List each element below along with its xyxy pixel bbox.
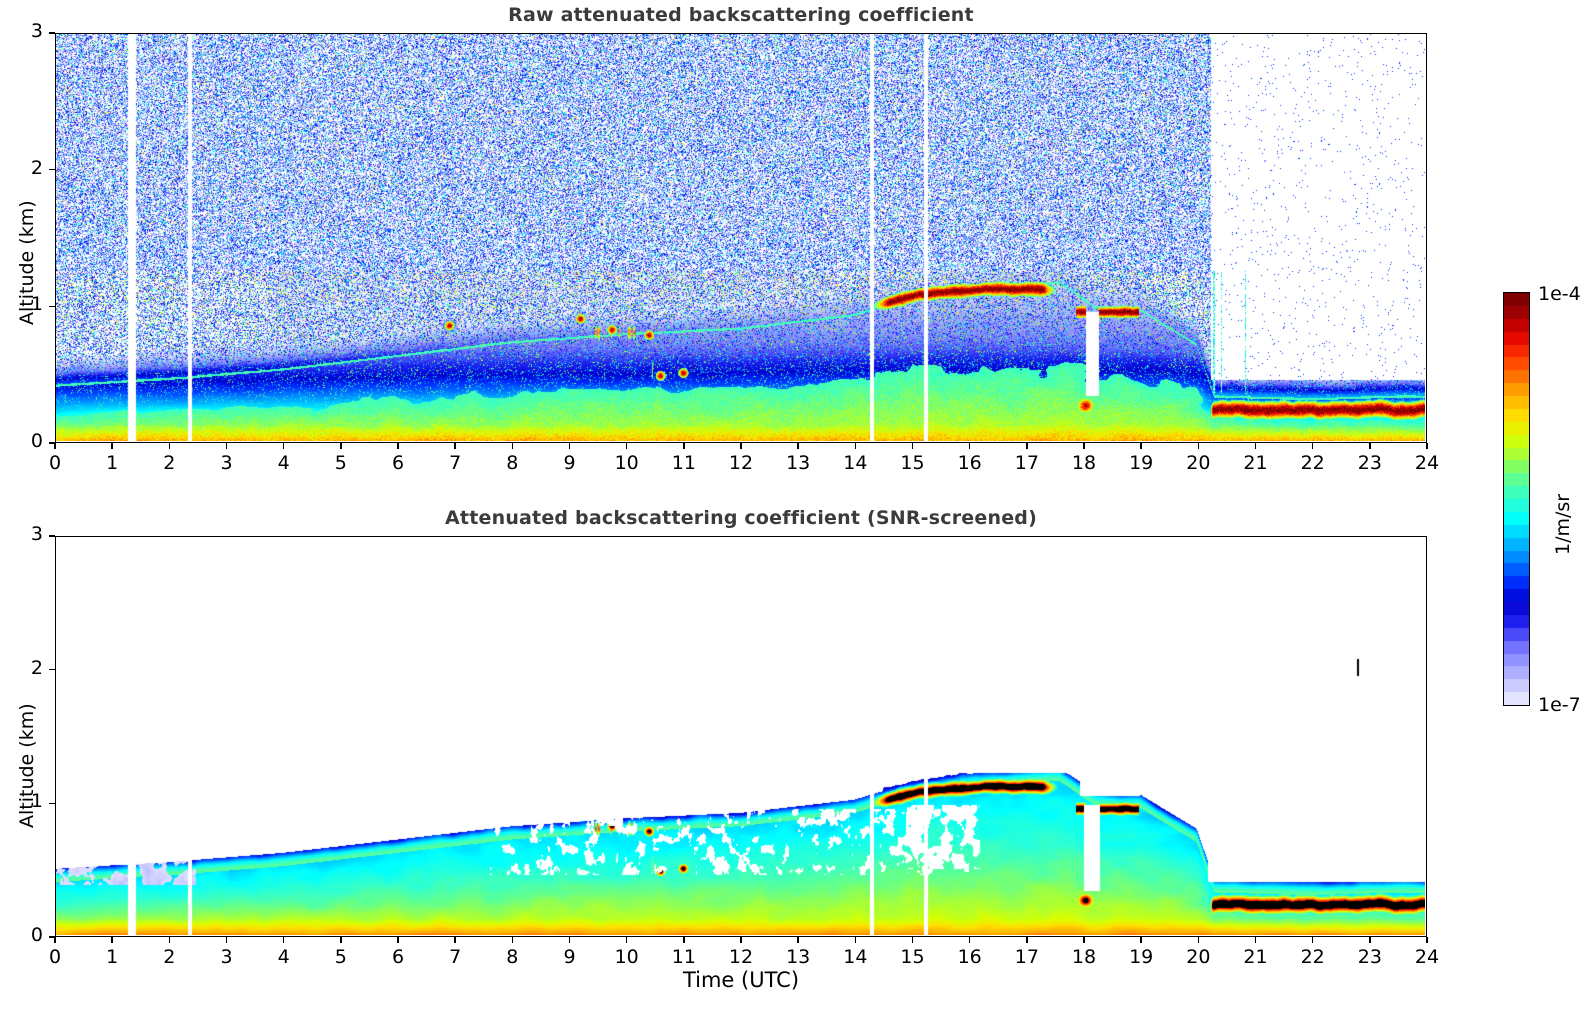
x-tick-mark	[797, 937, 799, 943]
plot-area-snr	[55, 536, 1427, 937]
x-tick-label: 11	[654, 946, 714, 968]
panel-title-snr: Attenuated backscattering coefficient (S…	[55, 507, 1427, 529]
x-axis-label: Time (UTC)	[55, 968, 1427, 992]
x-tick-mark	[855, 937, 857, 943]
x-tick-label: 20	[1168, 452, 1228, 474]
x-tick-label: 16	[940, 946, 1000, 968]
y-tick-mark	[49, 936, 55, 938]
x-tick-label: 12	[711, 946, 771, 968]
x-tick-mark	[1026, 443, 1028, 449]
x-tick-label: 23	[1340, 946, 1400, 968]
y-tick-label: 3	[0, 523, 43, 545]
x-tick-mark	[1369, 443, 1371, 449]
plot-area-raw	[55, 33, 1427, 443]
x-tick-mark	[1198, 937, 1200, 943]
x-tick-mark	[912, 937, 914, 943]
x-tick-mark	[569, 937, 571, 943]
x-tick-label: 15	[883, 452, 943, 474]
y-tick-mark	[49, 32, 55, 34]
x-tick-label: 17	[997, 452, 1057, 474]
x-tick-label: 3	[197, 452, 257, 474]
y-tick-label: 2	[0, 657, 43, 679]
x-tick-label: 19	[1111, 452, 1171, 474]
x-tick-mark	[397, 937, 399, 943]
x-tick-label: 22	[1283, 452, 1343, 474]
colorbar-gradient	[1504, 293, 1529, 705]
x-tick-mark	[1083, 443, 1085, 449]
heatmap-raw	[56, 34, 1425, 441]
x-tick-label: 2	[139, 452, 199, 474]
x-tick-mark	[54, 937, 56, 943]
x-tick-mark	[169, 937, 171, 943]
x-tick-mark	[169, 443, 171, 449]
x-tick-label: 16	[940, 452, 1000, 474]
x-tick-mark	[54, 443, 56, 449]
y-tick-mark	[49, 306, 55, 308]
x-tick-label: 15	[883, 946, 943, 968]
colorbar-tick-max: 1e-4	[1538, 283, 1581, 305]
colorbar-label: 1/m/sr	[1552, 494, 1574, 555]
x-tick-label: 4	[254, 946, 314, 968]
x-tick-label: 8	[482, 452, 542, 474]
y-tick-mark	[49, 535, 55, 537]
x-tick-mark	[683, 937, 685, 943]
y-tick-mark	[49, 169, 55, 171]
x-tick-mark	[397, 443, 399, 449]
x-tick-mark	[1255, 937, 1257, 943]
x-tick-mark	[226, 937, 228, 943]
x-tick-label: 3	[197, 946, 257, 968]
x-tick-label: 14	[825, 452, 885, 474]
x-tick-mark	[226, 443, 228, 449]
x-tick-mark	[283, 937, 285, 943]
x-tick-mark	[1312, 937, 1314, 943]
x-tick-label: 24	[1397, 452, 1457, 474]
x-tick-label: 13	[768, 946, 828, 968]
x-tick-label: 1	[82, 452, 142, 474]
colorbar	[1503, 292, 1530, 706]
x-tick-label: 11	[654, 452, 714, 474]
x-tick-mark	[1312, 443, 1314, 449]
x-tick-mark	[969, 443, 971, 449]
y-tick-mark	[49, 803, 55, 805]
x-tick-mark	[340, 937, 342, 943]
x-tick-mark	[111, 937, 113, 943]
x-tick-label: 21	[1226, 946, 1286, 968]
x-tick-mark	[626, 937, 628, 943]
x-tick-label: 24	[1397, 946, 1457, 968]
x-tick-label: 5	[311, 946, 371, 968]
x-tick-label: 12	[711, 452, 771, 474]
x-tick-label: 8	[482, 946, 542, 968]
x-tick-mark	[740, 443, 742, 449]
colorbar-tick-min: 1e-7	[1538, 694, 1581, 716]
x-tick-mark	[1369, 937, 1371, 943]
figure-root: Raw attenuated backscattering coefficien…	[0, 0, 1595, 1020]
x-tick-label: 19	[1111, 946, 1171, 968]
x-tick-label: 10	[597, 452, 657, 474]
x-tick-mark	[283, 443, 285, 449]
y-tick-label: 2	[0, 157, 43, 179]
x-tick-mark	[855, 443, 857, 449]
panel-title-raw: Raw attenuated backscattering coefficien…	[55, 4, 1427, 26]
x-tick-label: 4	[254, 452, 314, 474]
y-tick-label: 3	[0, 20, 43, 42]
y-tick-mark	[49, 442, 55, 444]
x-tick-mark	[1255, 443, 1257, 449]
x-tick-label: 5	[311, 452, 371, 474]
x-tick-mark	[340, 443, 342, 449]
x-tick-label: 22	[1283, 946, 1343, 968]
y-tick-mark	[49, 669, 55, 671]
x-tick-label: 17	[997, 946, 1057, 968]
x-tick-mark	[569, 443, 571, 449]
heatmap-snr	[56, 537, 1425, 935]
x-tick-label: 7	[425, 946, 485, 968]
x-tick-label: 23	[1340, 452, 1400, 474]
x-tick-mark	[683, 443, 685, 449]
x-tick-label: 1	[82, 946, 142, 968]
x-tick-label: 6	[368, 452, 428, 474]
x-tick-label: 6	[368, 946, 428, 968]
x-tick-mark	[740, 937, 742, 943]
x-tick-mark	[1083, 937, 1085, 943]
x-tick-mark	[969, 937, 971, 943]
x-tick-label: 2	[139, 946, 199, 968]
x-tick-label: 13	[768, 452, 828, 474]
x-tick-label: 14	[825, 946, 885, 968]
x-tick-mark	[512, 937, 514, 943]
y-tick-label: 0	[0, 430, 43, 452]
x-tick-label: 21	[1226, 452, 1286, 474]
x-tick-mark	[912, 443, 914, 449]
x-tick-mark	[1426, 937, 1428, 943]
y-tick-label: 1	[0, 790, 43, 812]
x-tick-label: 9	[540, 452, 600, 474]
x-tick-mark	[626, 443, 628, 449]
x-tick-label: 18	[1054, 452, 1114, 474]
x-tick-label: 0	[25, 452, 85, 474]
x-tick-mark	[1140, 937, 1142, 943]
x-tick-label: 7	[425, 452, 485, 474]
x-tick-mark	[1426, 443, 1428, 449]
x-tick-mark	[1026, 937, 1028, 943]
y-tick-label: 1	[0, 293, 43, 315]
x-tick-mark	[512, 443, 514, 449]
y-tick-label: 0	[0, 924, 43, 946]
x-tick-mark	[111, 443, 113, 449]
x-tick-label: 0	[25, 946, 85, 968]
x-tick-mark	[454, 443, 456, 449]
x-tick-label: 9	[540, 946, 600, 968]
x-tick-label: 20	[1168, 946, 1228, 968]
x-tick-mark	[1140, 443, 1142, 449]
x-tick-label: 10	[597, 946, 657, 968]
x-tick-mark	[1198, 443, 1200, 449]
x-tick-mark	[797, 443, 799, 449]
x-tick-label: 18	[1054, 946, 1114, 968]
x-tick-mark	[454, 937, 456, 943]
